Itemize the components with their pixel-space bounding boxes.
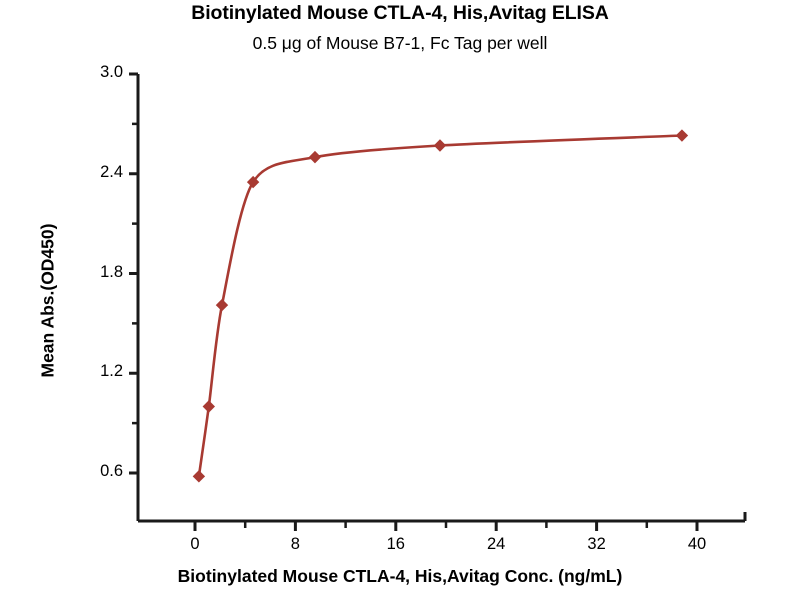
x-tick-label: 40 [667, 535, 727, 554]
plot-area [0, 0, 800, 600]
data-series [193, 129, 688, 482]
x-tick-label: 16 [366, 535, 426, 554]
x-tick-label: 24 [466, 535, 526, 554]
y-tick-label: 2.4 [63, 163, 123, 182]
x-tick-label: 32 [567, 535, 627, 554]
data-point-marker [309, 151, 321, 163]
data-point-marker [203, 400, 215, 412]
series-line [199, 136, 682, 477]
y-tick-label: 1.8 [63, 263, 123, 282]
y-tick-label: 0.6 [63, 462, 123, 481]
data-point-marker [434, 139, 446, 151]
x-tick-label: 8 [265, 535, 325, 554]
y-tick-label: 1.2 [63, 362, 123, 381]
x-tick-label: 0 [165, 535, 225, 554]
elisa-chart: Biotinylated Mouse CTLA-4, His,Avitag EL… [0, 0, 800, 600]
data-point-marker [676, 129, 688, 141]
data-point-marker [216, 299, 228, 311]
y-tick-label: 3.0 [63, 63, 123, 82]
data-point-marker [193, 470, 205, 482]
